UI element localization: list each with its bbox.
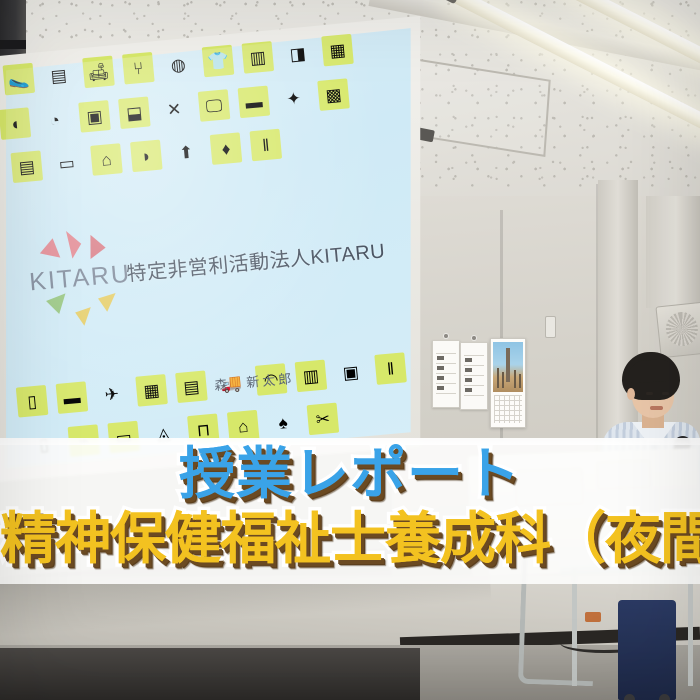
calendar-month-grid xyxy=(494,395,522,423)
light-switch-icon xyxy=(545,316,556,338)
speaker-eye-left xyxy=(646,392,653,395)
sheet-pin-right xyxy=(472,336,476,340)
calendar-photo xyxy=(493,342,523,392)
overlay-title-line-2-outline: 精神保健福祉士養成科（夜間部） xyxy=(0,508,700,572)
wall-duct xyxy=(646,196,700,308)
wall-fan-icon xyxy=(655,302,700,359)
speaker-mouth xyxy=(650,406,663,410)
schedule-sheet-right xyxy=(460,342,488,410)
desk-leg-2 xyxy=(688,566,693,686)
slide-glare xyxy=(0,14,422,484)
blue-equipment-case xyxy=(618,600,676,700)
floor-shadow-left xyxy=(0,648,420,700)
speaker-ear xyxy=(627,388,635,400)
screenshot-root: 🥿▤🛋⑂◍👕▥◨▦◖◔▣⬓✕🖵▬✦▩▤▭⌂◗⬆♦‖ ▯▬✈▦▤🚚◠▥▣‖▯⌁▭◬… xyxy=(0,0,700,700)
projection-screen: 🥿▤🛋⑂◍👕▥◨▦◖◔▣⬓✕🖵▬✦▩▤▭⌂◗⬆♦‖ ▯▬✈▦▤🚚◠▥▣‖▯⌁▭◬… xyxy=(0,14,422,484)
power-plug xyxy=(585,612,601,622)
wall-calendar xyxy=(490,338,526,428)
sheet-pin-left xyxy=(444,334,448,338)
overlay-title-line-1-outline: 授業レポート xyxy=(0,444,700,506)
speaker-eye-right xyxy=(662,392,669,395)
desk-leg-1 xyxy=(572,568,577,686)
